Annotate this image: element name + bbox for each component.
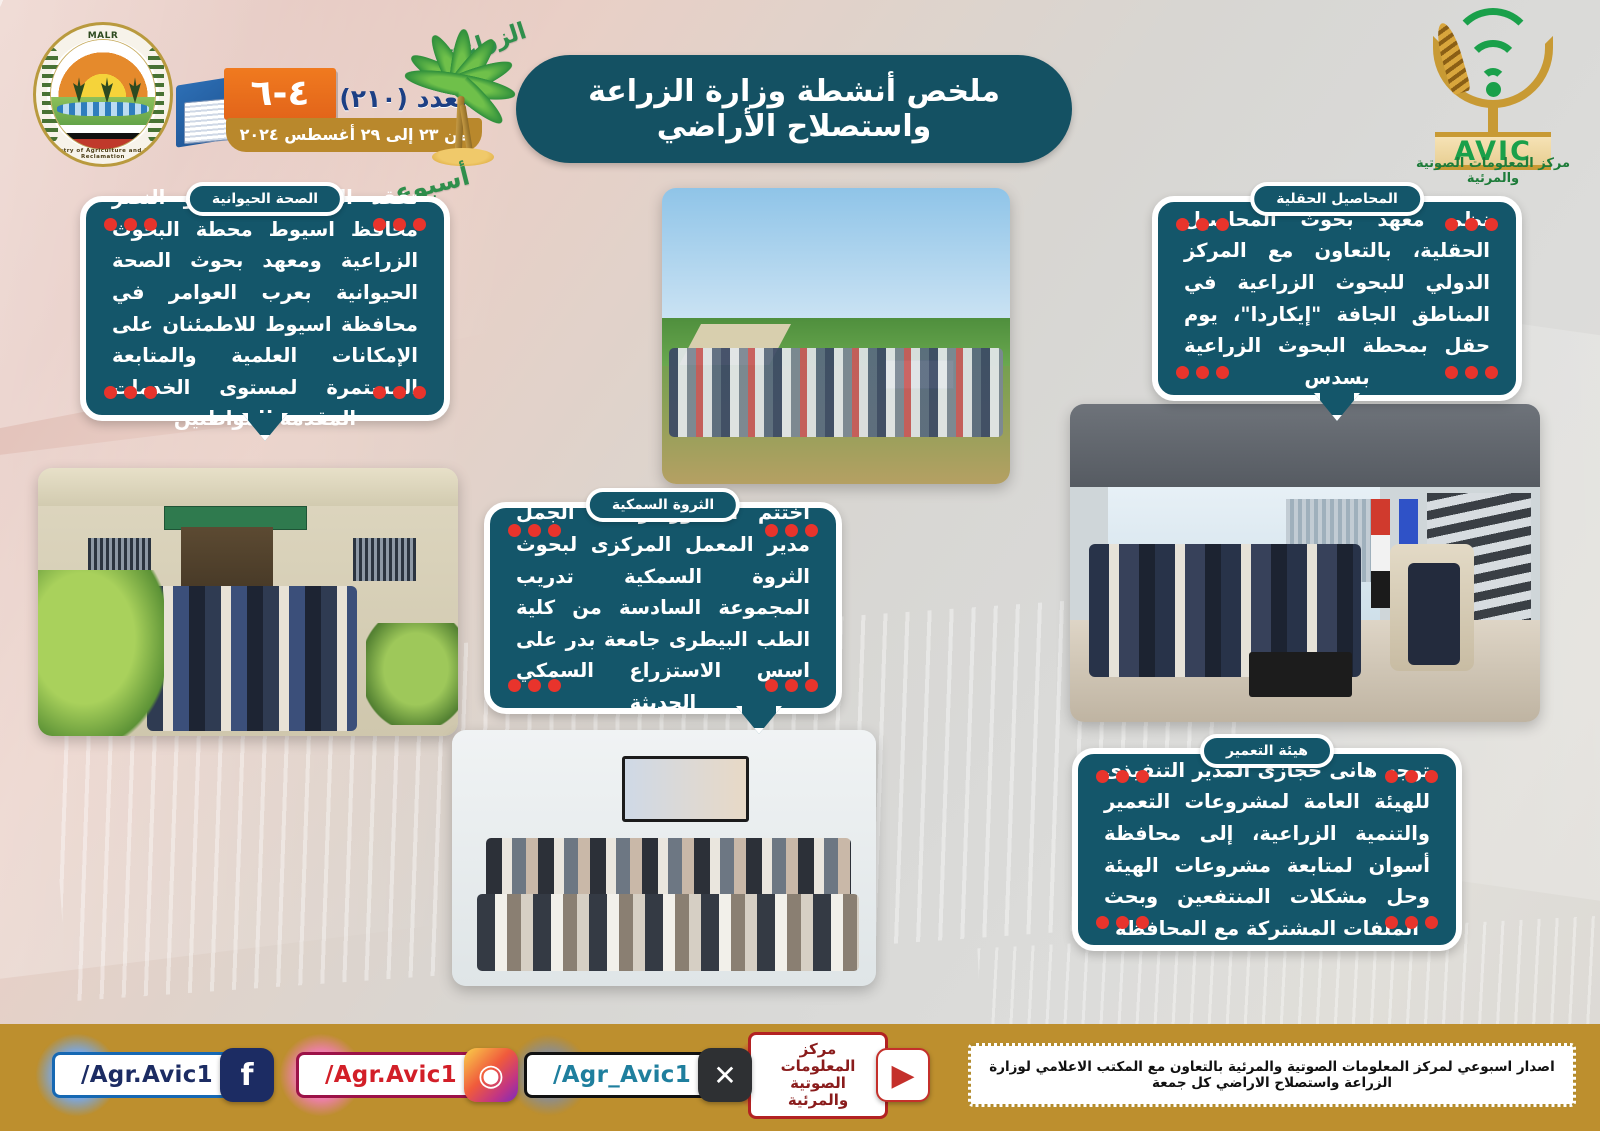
malr-ministry-seal-icon: MALR Ministry of Agriculture and Land Re… bbox=[33, 22, 173, 167]
photo-training-graduation bbox=[452, 730, 876, 986]
social-link-x-twitter[interactable]: ✕ /Agr_Avic1 bbox=[524, 1044, 752, 1106]
footer-disclaimer: اصدار اسبوعي لمركز المعلومات الصوتية وال… bbox=[968, 1043, 1576, 1107]
facebook-icon[interactable]: f bbox=[220, 1048, 274, 1102]
x-twitter-handle[interactable]: /Agr_Avic1 bbox=[524, 1052, 710, 1098]
youtube-icon[interactable]: ▶ bbox=[876, 1048, 930, 1102]
card-fisheries: الثروة السمكية اختتم الدكتور رفعت الجمل … bbox=[484, 502, 842, 714]
decorative-dots bbox=[1445, 218, 1498, 231]
card-field-crops: المحاصيل الحقلية نظم معهد بحوث المحاصيل … bbox=[1152, 196, 1522, 401]
decorative-dots bbox=[508, 524, 561, 537]
social-link-youtube[interactable]: ▶ مركز المعلومات الصوتية والمرئية bbox=[748, 1044, 930, 1106]
decorative-dots bbox=[104, 218, 157, 231]
page-range-label: ٤-٦ bbox=[224, 68, 336, 120]
decorative-dots bbox=[765, 679, 818, 692]
footer-bar: f /Agr.Avic1 ◉ /Agr.Avic1 ✕ /Agr_Avic1 ▶… bbox=[0, 1024, 1600, 1131]
decorative-dots bbox=[1385, 770, 1438, 783]
photo-research-station-visit bbox=[38, 468, 458, 736]
photo-field-day bbox=[662, 188, 1010, 484]
instagram-handle[interactable]: /Agr.Avic1 bbox=[296, 1052, 476, 1098]
youtube-handle[interactable]: مركز المعلومات الصوتية والمرئية bbox=[748, 1032, 888, 1119]
facebook-handle[interactable]: /Agr.Avic1 bbox=[52, 1052, 232, 1098]
card-body-field-crops: نظم معهد بحوث المحاصيل الحقلية، بالتعاون… bbox=[1184, 204, 1490, 393]
palm-tree-icon bbox=[408, 52, 512, 170]
agriculture-week-logo: الزراعة أسبوع bbox=[392, 18, 524, 193]
avic-subtitle: مركز المعلومات الصوتية والمرئية bbox=[1408, 156, 1578, 186]
seal-caption-en: Ministry of Agriculture and Land Reclama… bbox=[36, 148, 170, 160]
decorative-dots bbox=[1176, 218, 1229, 231]
photo-official-meeting bbox=[1070, 404, 1540, 722]
card-animal-health: الصحة الحيوانية تفقد اللواء هشام ابو الن… bbox=[80, 196, 450, 421]
decorative-dots bbox=[1176, 366, 1229, 379]
decorative-dots bbox=[765, 524, 818, 537]
seal-flag-band bbox=[51, 125, 155, 149]
social-link-facebook[interactable]: f /Agr.Avic1 bbox=[52, 1044, 274, 1106]
decorative-dots bbox=[1385, 916, 1438, 929]
decorative-dots bbox=[373, 218, 426, 231]
decorative-dots bbox=[1096, 770, 1149, 783]
decorative-dots bbox=[373, 386, 426, 399]
card-reconstruction-authority: هيئة التعمير توجه هانى حجازى المدير التن… bbox=[1072, 748, 1462, 951]
card-title-reconstruction: هيئة التعمير bbox=[1200, 734, 1334, 768]
instagram-icon[interactable]: ◉ bbox=[464, 1048, 518, 1102]
social-link-instagram[interactable]: ◉ /Agr.Avic1 bbox=[296, 1044, 518, 1106]
card-title-animal-health: الصحة الحيوانية bbox=[186, 182, 344, 216]
card-title-fisheries: الثروة السمكية bbox=[586, 488, 740, 522]
seal-water-icon bbox=[57, 102, 149, 116]
seal-acronym: MALR bbox=[36, 31, 170, 41]
decorative-dots bbox=[508, 679, 561, 692]
page-title: ملخص أنشطة وزارة الزراعة واستصلاح الأراض… bbox=[516, 55, 1072, 163]
card-body-reconstruction: توجه هانى حجازى المدير التنفيذى للهيئة ا… bbox=[1104, 755, 1430, 944]
decorative-dots bbox=[1445, 366, 1498, 379]
poster-canvas: MALR Ministry of Agriculture and Land Re… bbox=[0, 0, 1600, 1131]
card-title-field-crops: المحاصيل الحقلية bbox=[1250, 182, 1424, 216]
x-twitter-icon[interactable]: ✕ bbox=[698, 1048, 752, 1102]
decorative-dots bbox=[104, 386, 157, 399]
decorative-dots bbox=[1096, 916, 1149, 929]
seal-inner-disc bbox=[50, 39, 156, 150]
avic-logo: AVIC مركز المعلومات الصوتية والمرئية bbox=[1408, 8, 1578, 180]
